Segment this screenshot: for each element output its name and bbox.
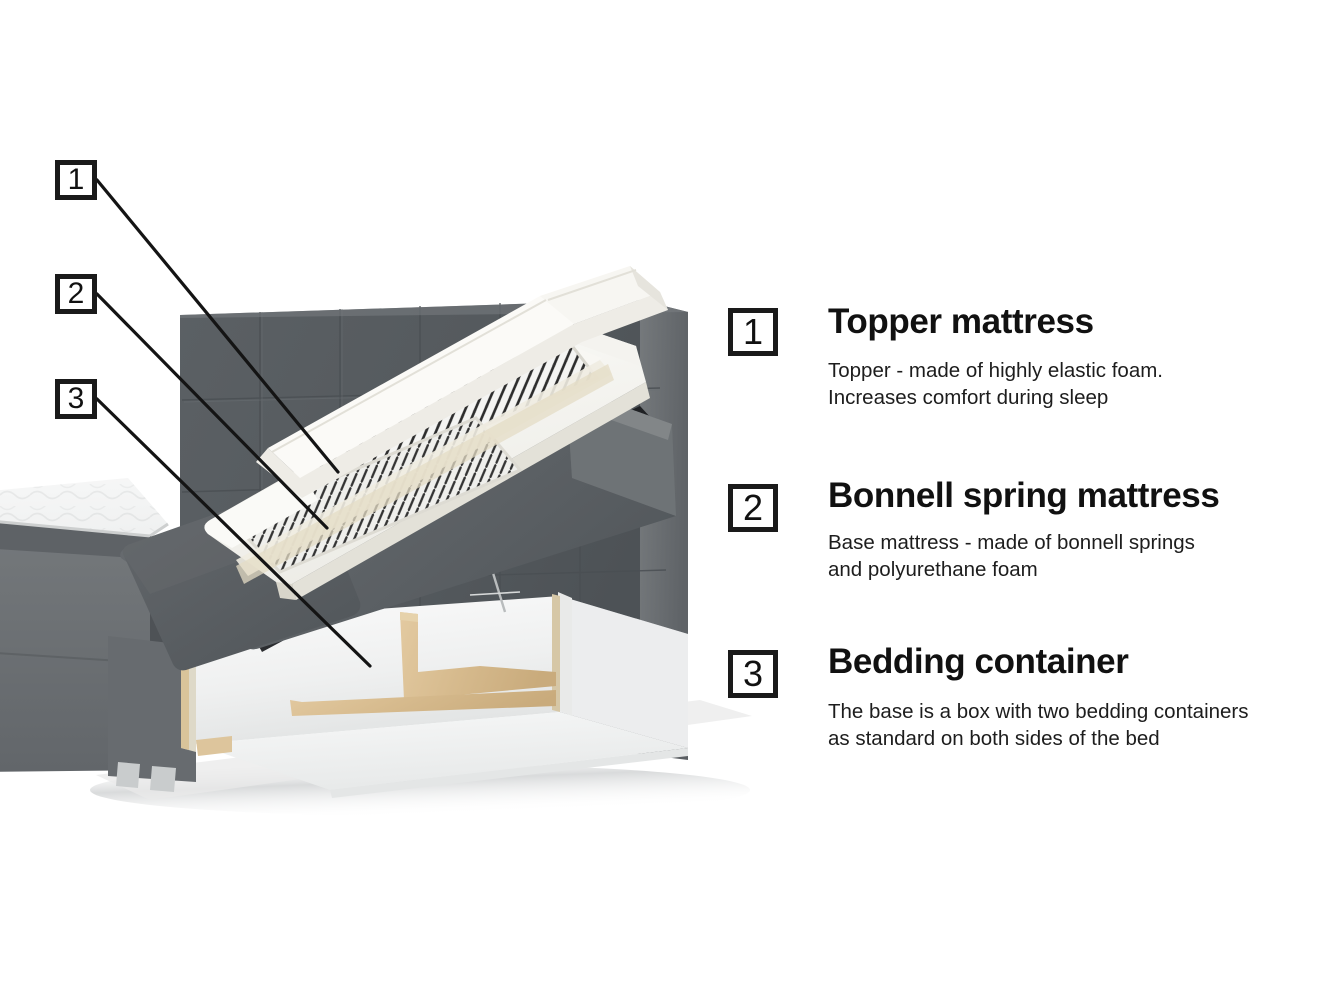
legend-title-1: Topper mattress — [828, 302, 1094, 342]
callout-number-2: 2 — [55, 274, 97, 314]
leader-line-1 — [97, 180, 338, 472]
legend-number-1: 1 — [728, 308, 778, 356]
legend-description-2-line-2: and polyurethane foam — [828, 556, 1195, 583]
legend-description-3: The base is a box with two bedding conta… — [828, 698, 1249, 752]
legend-number-2: 2 — [728, 484, 778, 532]
leader-line-2 — [97, 294, 327, 528]
legend-description-3-line-2: as standard on both sides of the bed — [828, 725, 1249, 752]
legend-title-2: Bonnell spring mattress — [828, 476, 1219, 516]
legend-description-1-line-2: Increases comfort during sleep — [828, 384, 1163, 411]
legend-title-3: Bedding container — [828, 642, 1128, 682]
legend-description-1: Topper - made of highly elastic foam. In… — [828, 357, 1163, 411]
callout-number-1: 1 — [55, 160, 97, 200]
infographic-canvas: 1 2 3 1 Topper mattress Topper - made of… — [0, 0, 1333, 999]
leader-line-3 — [97, 399, 370, 666]
callout-number-3: 3 — [55, 379, 97, 419]
legend-description-1-line-1: Topper - made of highly elastic foam. — [828, 357, 1163, 384]
legend-description-2: Base mattress - made of bonnell springs … — [828, 529, 1195, 583]
legend-description-3-line-1: The base is a box with two bedding conta… — [828, 698, 1249, 725]
legend-description-2-line-1: Base mattress - made of bonnell springs — [828, 529, 1195, 556]
legend-number-3: 3 — [728, 650, 778, 698]
